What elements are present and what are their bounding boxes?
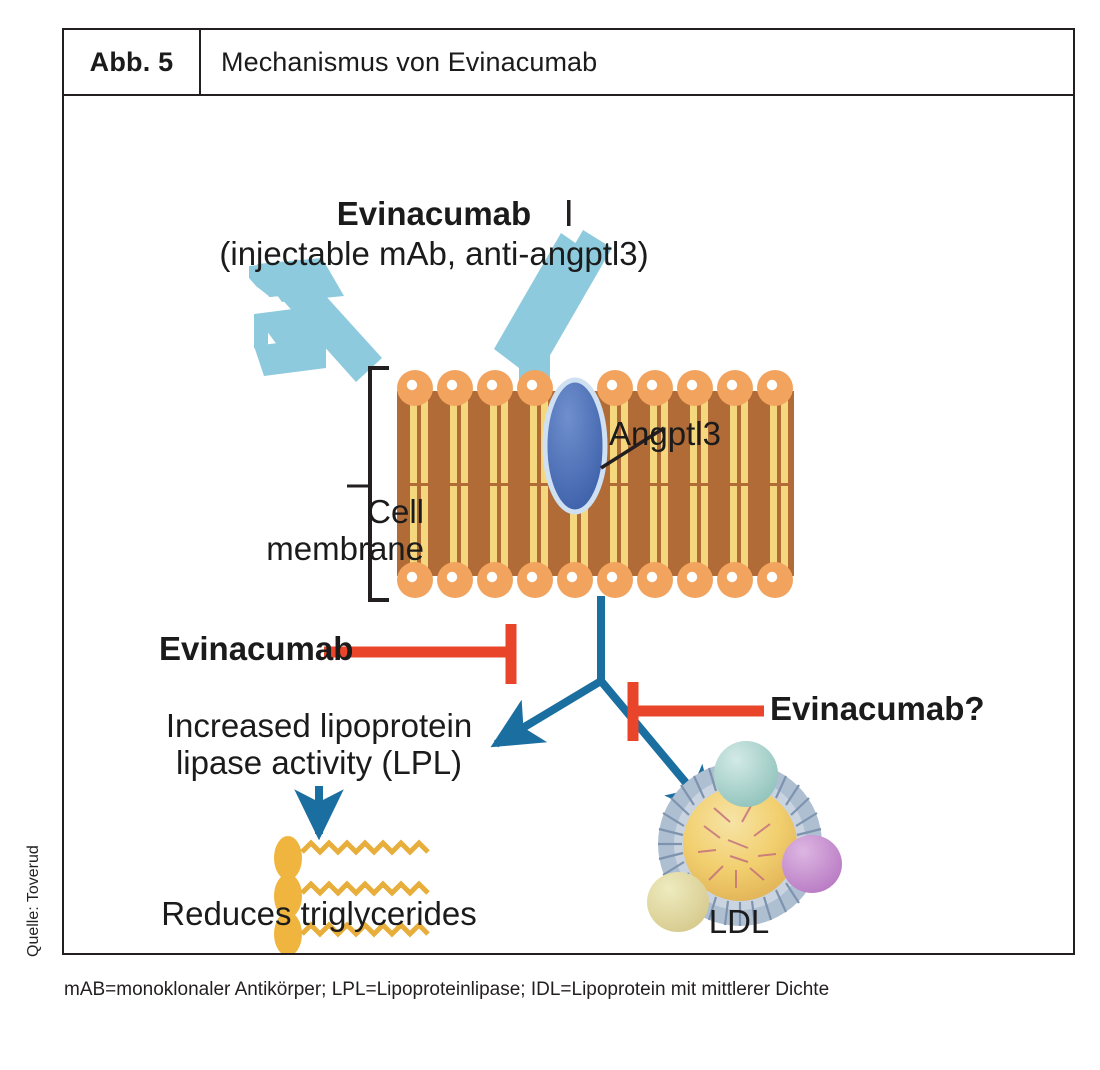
diagram-canvas: Evinacumab (injectable mAb, anti-angptl3… — [64, 96, 1073, 953]
angptl3-receptor-icon — [545, 380, 605, 512]
cell-membrane-label: Cell membrane — [174, 494, 424, 568]
lpl-activity-label: Increased lipoprotein lipase activity (L… — [104, 708, 534, 782]
figure-frame: Abb. 5 Mechanismus von Evinacumab — [62, 28, 1075, 955]
source-label: Quelle: Toverud — [25, 797, 43, 957]
evinacumab-inhibitor-right-label: Evinacumab? — [770, 691, 985, 728]
figure-title: Mechanismus von Evinacumab — [201, 47, 1073, 78]
figure-footnote: mAB=monoklonaler Antikörper; LPL=Lipopro… — [64, 975, 1054, 1004]
reduces-triglycerides-label: Reduces triglycerides — [94, 896, 544, 933]
antibody-title-label: Evinacumab — [64, 196, 804, 233]
figure-header: Abb. 5 Mechanismus von Evinacumab — [64, 30, 1073, 96]
evinacumab-inhibitor-left-label: Evinacumab — [159, 631, 353, 668]
inhibition-bar-right — [633, 682, 764, 741]
angptl3-label: Angptl3 — [609, 416, 721, 453]
figure-number: Abb. 5 — [64, 30, 201, 94]
antibody-subtitle-label: (injectable mAb, anti-angptl3) — [64, 236, 804, 273]
ldl-label: LDL — [654, 904, 824, 941]
